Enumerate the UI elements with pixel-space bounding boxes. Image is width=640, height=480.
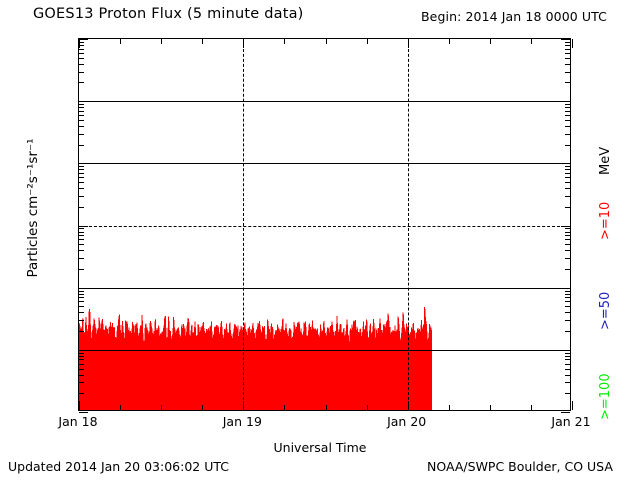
x-tick — [449, 405, 450, 410]
x-tick — [202, 405, 203, 410]
y-tick — [565, 120, 570, 121]
y-tick — [79, 258, 84, 259]
flux-traces — [79, 39, 570, 410]
x-tick — [408, 401, 409, 410]
y-tick — [79, 356, 84, 357]
y-tick — [79, 312, 84, 313]
y-tick — [79, 72, 84, 73]
x-tick — [531, 39, 532, 44]
x-tick-label: Jan 21 — [551, 414, 590, 429]
y-tick — [79, 207, 84, 208]
y-tick — [565, 364, 570, 365]
y-tick — [565, 235, 570, 236]
y-tick — [565, 320, 570, 321]
y-tick — [565, 45, 570, 46]
x-tick — [449, 39, 450, 44]
y-tick — [565, 72, 570, 73]
y-axis-label: Particles cm⁻²s⁻¹sr⁻¹ — [25, 98, 41, 318]
y-tick — [565, 269, 570, 270]
x-tick — [572, 39, 573, 48]
y-tick — [565, 301, 570, 302]
y-tick — [79, 145, 84, 146]
y-tick — [565, 359, 570, 360]
source-credit: NOAA/SWPC Boulder, CO USA — [427, 459, 613, 474]
y-tick — [79, 353, 84, 354]
y-tick — [79, 188, 84, 189]
y-tick — [79, 320, 84, 321]
legend-100: >=100 — [598, 373, 613, 420]
x-tick — [284, 39, 285, 44]
y-tick — [79, 101, 88, 102]
y-tick — [565, 169, 570, 170]
y-tick — [565, 312, 570, 313]
y-tick — [79, 269, 84, 270]
x-tick-label: Jan 20 — [387, 414, 426, 429]
y-tick — [565, 53, 570, 54]
gridline-100 — [79, 163, 570, 164]
y-tick — [565, 291, 570, 292]
y-tick — [561, 163, 570, 164]
x-tick — [326, 405, 327, 410]
y-tick — [565, 196, 570, 197]
y-tick — [79, 288, 88, 289]
y-tick — [565, 182, 570, 183]
day-divider-jan-19 — [243, 39, 244, 410]
y-tick — [79, 134, 84, 135]
y-tick — [79, 173, 84, 174]
y-tick — [561, 412, 570, 413]
y-tick — [79, 163, 88, 164]
y-tick — [565, 258, 570, 259]
y-tick — [79, 104, 84, 105]
y-tick — [565, 356, 570, 357]
y-tick — [565, 294, 570, 295]
x-tick-label: Jan 19 — [223, 414, 262, 429]
y-tick — [79, 115, 84, 116]
x-tick — [490, 405, 491, 410]
y-tick — [79, 111, 84, 112]
y-tick — [565, 145, 570, 146]
y-tick — [79, 58, 84, 59]
x-tick — [79, 39, 80, 48]
x-tick — [243, 39, 244, 48]
y-tick — [79, 166, 84, 167]
y-tick — [79, 306, 84, 307]
legend-10: >=10 — [598, 202, 613, 240]
y-tick — [79, 235, 84, 236]
y-tick — [565, 64, 570, 65]
y-tick — [565, 331, 570, 332]
y-tick — [79, 126, 84, 127]
y-tick — [565, 228, 570, 229]
gridline-1 — [79, 288, 570, 289]
y-tick — [79, 177, 84, 178]
y-tick — [565, 297, 570, 298]
legend-50: >=50 — [598, 292, 613, 330]
x-tick — [408, 39, 409, 48]
y-tick — [79, 364, 84, 365]
updated-timestamp: Updated 2014 Jan 20 03:06:02 UTC — [8, 459, 229, 474]
y-tick — [79, 244, 84, 245]
y-tick — [565, 393, 570, 394]
x-tick — [367, 39, 368, 44]
x-tick — [79, 401, 80, 410]
x-tick — [120, 39, 121, 44]
gridline-dashed-10 — [79, 226, 570, 227]
y-tick — [565, 188, 570, 189]
x-tick — [120, 405, 121, 410]
legend-mev: MeV — [598, 147, 613, 175]
y-tick — [79, 182, 84, 183]
x-tick-label: Jan 18 — [58, 414, 97, 429]
y-tick — [565, 244, 570, 245]
y-tick — [79, 64, 84, 65]
y-tick — [79, 359, 84, 360]
y-tick — [565, 42, 570, 43]
y-tick — [565, 104, 570, 105]
y-tick — [565, 82, 570, 83]
x-tick — [531, 405, 532, 410]
y-tick — [79, 331, 84, 332]
y-tick — [565, 111, 570, 112]
x-tick — [161, 405, 162, 410]
y-tick — [561, 226, 570, 227]
y-tick — [565, 115, 570, 116]
y-tick — [565, 126, 570, 127]
y-tick — [565, 375, 570, 376]
y-tick — [565, 166, 570, 167]
y-tick — [79, 369, 84, 370]
x-tick — [572, 401, 573, 410]
y-tick — [561, 39, 570, 40]
x-tick — [326, 39, 327, 44]
begin-time-label: Begin: 2014 Jan 18 0000 UTC — [421, 9, 607, 24]
y-tick — [561, 350, 570, 351]
y-tick — [79, 375, 84, 376]
y-tick — [79, 412, 88, 413]
y-tick — [565, 382, 570, 383]
x-tick — [367, 405, 368, 410]
y-tick — [565, 369, 570, 370]
y-tick — [79, 232, 84, 233]
x-tick — [243, 401, 244, 410]
day-divider-jan-20 — [408, 39, 409, 410]
y-tick — [79, 53, 84, 54]
goes-proton-flux-plot: GOES13 Proton Flux (5 minute data) Begin… — [0, 0, 640, 480]
y-tick — [79, 49, 84, 50]
gridline-0.1 — [79, 350, 570, 351]
y-tick — [79, 297, 84, 298]
plot-clip-region — [79, 39, 570, 410]
y-tick — [561, 101, 570, 102]
y-tick — [79, 82, 84, 83]
y-tick — [79, 196, 84, 197]
y-tick — [79, 382, 84, 383]
y-tick — [565, 173, 570, 174]
x-tick — [490, 39, 491, 44]
chart-title: GOES13 Proton Flux (5 minute data) — [33, 6, 304, 22]
y-tick — [565, 134, 570, 135]
y-tick — [79, 169, 84, 170]
y-tick — [79, 39, 88, 40]
y-tick — [79, 393, 84, 394]
y-tick — [565, 177, 570, 178]
x-tick — [202, 39, 203, 44]
y-tick — [565, 58, 570, 59]
y-tick — [79, 294, 84, 295]
y-tick — [565, 49, 570, 50]
y-tick — [565, 250, 570, 251]
y-tick — [79, 350, 88, 351]
y-tick — [565, 107, 570, 108]
y-tick — [565, 232, 570, 233]
y-tick — [79, 107, 84, 108]
y-tick — [565, 353, 570, 354]
y-tick — [79, 291, 84, 292]
y-tick — [79, 301, 84, 302]
x-tick — [161, 39, 162, 44]
x-tick — [284, 405, 285, 410]
gridline-1000 — [79, 101, 570, 102]
y-tick — [565, 207, 570, 208]
x-axis-label: Universal Time — [0, 440, 640, 455]
y-tick — [79, 120, 84, 121]
plot-frame — [78, 38, 571, 411]
trace-10mev — [79, 307, 432, 410]
y-tick — [565, 306, 570, 307]
y-tick — [79, 226, 88, 227]
y-tick — [79, 239, 84, 240]
y-tick — [561, 288, 570, 289]
y-tick — [565, 239, 570, 240]
y-tick — [79, 250, 84, 251]
y-tick — [79, 228, 84, 229]
